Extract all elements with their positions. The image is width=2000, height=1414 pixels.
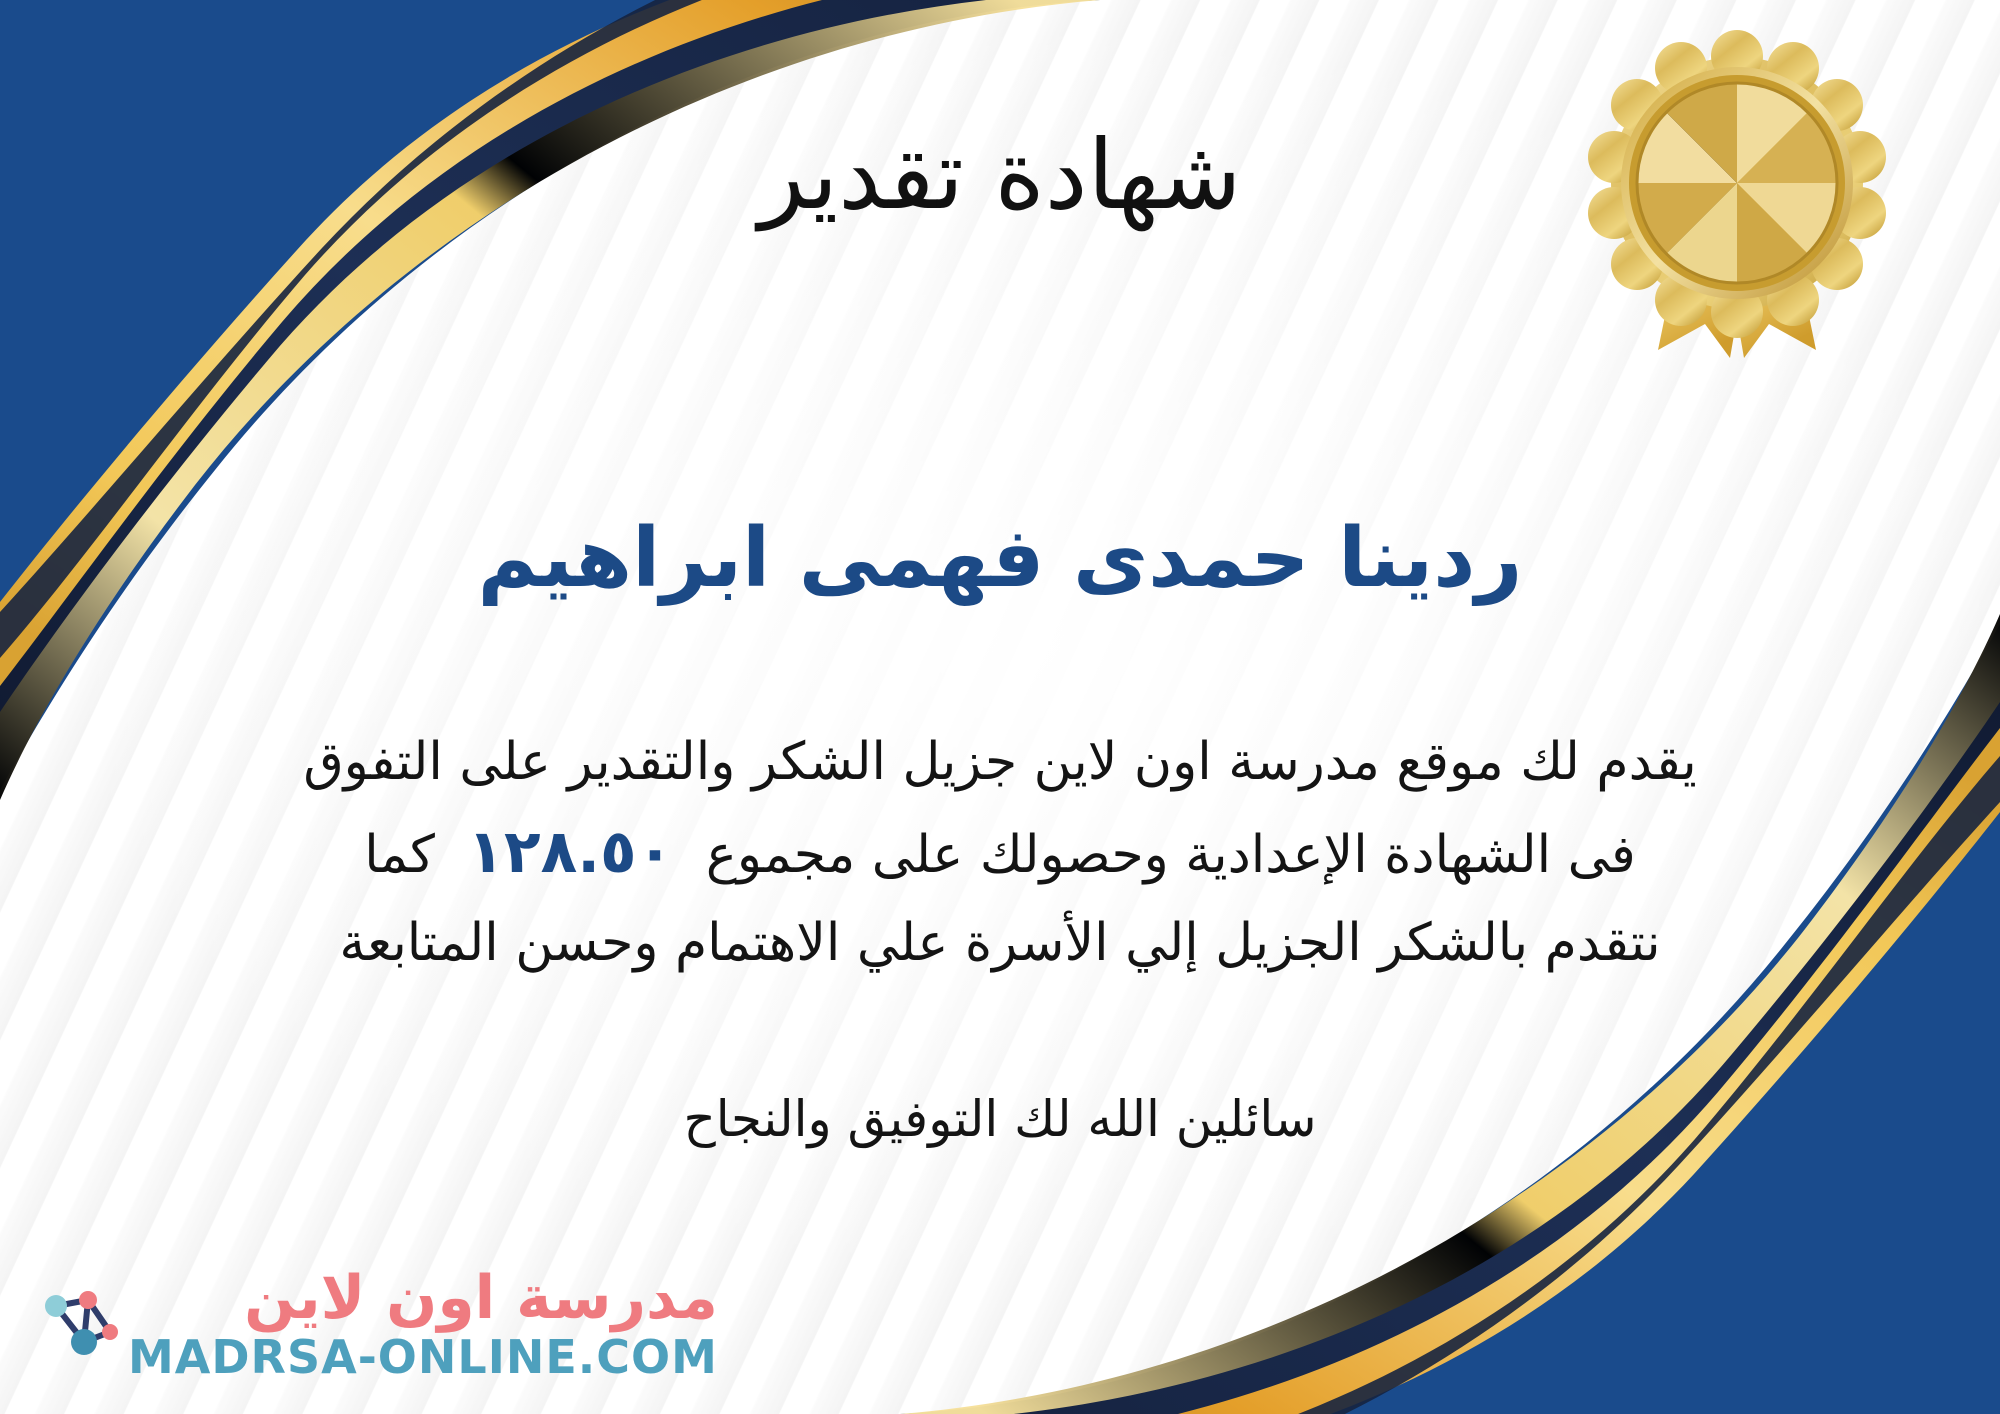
brand-logo[interactable]: مدرسة اون لاين MADRSA-ONLINE.COM [26, 1268, 718, 1380]
recipient-name: ردينا حمدى فهمى ابراهيم [0, 510, 2000, 608]
body-line-2-prefix: فى الشهادة الإعدادية وحصولك على مجموع [706, 825, 1636, 885]
body-line-2-suffix: كما [364, 825, 435, 885]
body-line-2: فى الشهادة الإعدادية وحصولك على مجموع ١٢… [60, 804, 1940, 901]
brand-text: مدرسة اون لاين MADRSA-ONLINE.COM [128, 1268, 718, 1380]
closing-wish: سائلين الله لك التوفيق والنجاح [0, 1090, 2000, 1148]
network-nodes-icon [26, 1278, 118, 1370]
brand-website-url: MADRSA-ONLINE.COM [128, 1334, 718, 1380]
brand-name-arabic: مدرسة اون لاين [128, 1268, 718, 1328]
certificate-canvas: شهادة تقدير ردينا حمدى فهمى ابراهيم يقدم… [0, 0, 2000, 1414]
certificate-body: يقدم لك موقع مدرسة اون لاين جزيل الشكر و… [60, 720, 1940, 986]
body-line-1: يقدم لك موقع مدرسة اون لاين جزيل الشكر و… [60, 720, 1940, 804]
certificate-title: شهادة تقدير [0, 120, 2000, 230]
body-line-3: نتقدم بالشكر الجزيل إلي الأسرة علي الاهت… [60, 901, 1940, 985]
certificate-content: شهادة تقدير ردينا حمدى فهمى ابراهيم يقدم… [0, 0, 2000, 1414]
total-score-value: ١٢٨.٥٠ [451, 817, 689, 887]
